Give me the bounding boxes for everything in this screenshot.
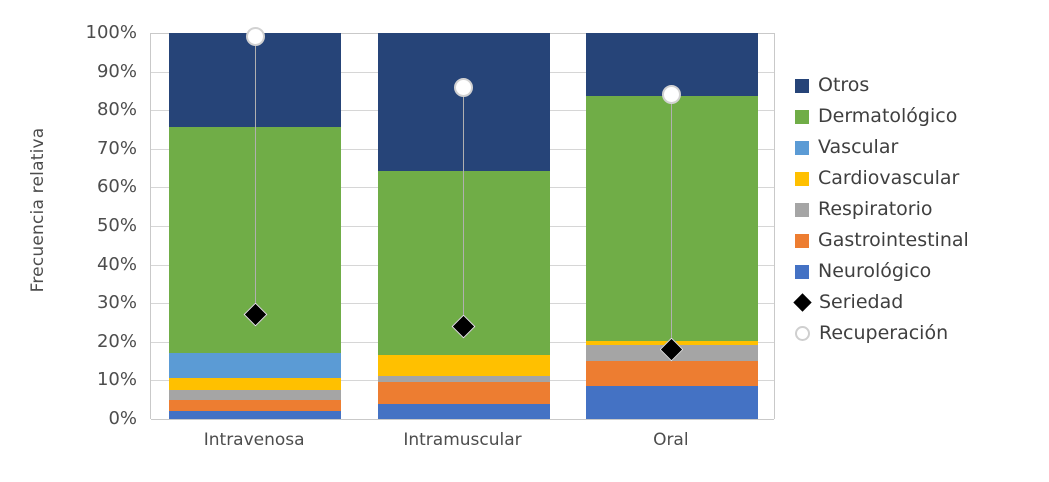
- recuperacion-marker[interactable]: [246, 27, 265, 46]
- plot-area: [150, 33, 775, 419]
- bar-segment-cardiovascular[interactable]: [169, 378, 341, 390]
- legend-swatch-circle-icon: [795, 326, 810, 341]
- y-axis-tick-label: 20%: [45, 333, 137, 351]
- legend-item[interactable]: Otros: [795, 70, 1045, 101]
- legend-swatch-square-icon: [795, 234, 809, 248]
- legend-item-label: Respiratorio: [818, 200, 933, 219]
- legend-item[interactable]: Cardiovascular: [795, 163, 1045, 194]
- y-axis-tick-label: 100%: [45, 24, 137, 42]
- bar-segment-respiratorio[interactable]: [169, 390, 341, 400]
- y-axis-tick-label: 70%: [45, 140, 137, 158]
- legend-item-label: Gastrointestinal: [818, 231, 969, 250]
- y-axis-title: Frecuencia relativa: [28, 100, 48, 320]
- legend-swatch-square-icon: [795, 265, 809, 279]
- legend-item[interactable]: Dermatológico: [795, 101, 1045, 132]
- marker-connector-line: [255, 37, 256, 315]
- bar-segment-gastrointestinal[interactable]: [169, 400, 341, 411]
- bar-segment-neurol-gico[interactable]: [169, 411, 341, 419]
- legend-item[interactable]: Vascular: [795, 132, 1045, 163]
- legend-item[interactable]: Recuperación: [795, 318, 1045, 349]
- y-axis-tick-label: 60%: [45, 178, 137, 196]
- stacked-bar-chart: Frecuencia relativa 0%10%20%30%40%50%60%…: [0, 0, 1049, 482]
- legend-item-label: Otros: [818, 76, 869, 95]
- legend-item-label: Neurológico: [818, 262, 931, 281]
- legend-item[interactable]: Respiratorio: [795, 194, 1045, 225]
- y-axis-tick-label: 10%: [45, 371, 137, 389]
- y-axis-tick-label: 80%: [45, 101, 137, 119]
- x-axis-tick-label: Oral: [567, 430, 775, 450]
- bar-group[interactable]: [378, 33, 550, 419]
- x-axis-tick-label: Intramuscular: [358, 430, 566, 450]
- legend-swatch-square-icon: [795, 141, 809, 155]
- marker-connector-line: [671, 95, 672, 350]
- legend-item-label: Cardiovascular: [818, 169, 959, 188]
- legend-item-label: Vascular: [818, 138, 898, 157]
- legend-item[interactable]: Gastrointestinal: [795, 225, 1045, 256]
- legend-item-label: Dermatológico: [818, 107, 957, 126]
- legend-swatch-diamond-icon: [793, 293, 811, 311]
- marker-connector-line: [463, 87, 464, 326]
- bar-segment-neurol-gico[interactable]: [378, 404, 550, 419]
- gridline: [151, 419, 774, 420]
- y-axis-tick-label: 0%: [45, 410, 137, 428]
- legend-swatch-square-icon: [795, 203, 809, 217]
- bar-segment-respiratorio[interactable]: [378, 376, 550, 382]
- bar-group[interactable]: [586, 33, 758, 419]
- chart-legend: OtrosDermatológicoVascularCardiovascular…: [795, 70, 1045, 349]
- recuperacion-marker[interactable]: [454, 78, 473, 97]
- legend-item-label: Recuperación: [819, 324, 948, 343]
- y-axis-tick-label: 90%: [45, 63, 137, 81]
- bar-segment-gastrointestinal[interactable]: [586, 361, 758, 386]
- bar-group[interactable]: [169, 33, 341, 419]
- y-axis-tick-label: 30%: [45, 294, 137, 312]
- x-axis-tick-label: Intravenosa: [150, 430, 358, 450]
- legend-swatch-square-icon: [795, 172, 809, 186]
- y-axis-tick-label: 50%: [45, 217, 137, 235]
- bar-segment-gastrointestinal[interactable]: [378, 382, 550, 404]
- legend-item[interactable]: Neurológico: [795, 256, 1045, 287]
- legend-item-label: Seriedad: [819, 293, 903, 312]
- bar-segment-vascular[interactable]: [169, 353, 341, 378]
- legend-swatch-square-icon: [795, 79, 809, 93]
- legend-swatch-square-icon: [795, 110, 809, 124]
- legend-item[interactable]: Seriedad: [795, 287, 1045, 318]
- y-axis-tick-label: 40%: [45, 256, 137, 274]
- bar-segment-neurol-gico[interactable]: [586, 386, 758, 419]
- bar-segment-cardiovascular[interactable]: [378, 355, 550, 376]
